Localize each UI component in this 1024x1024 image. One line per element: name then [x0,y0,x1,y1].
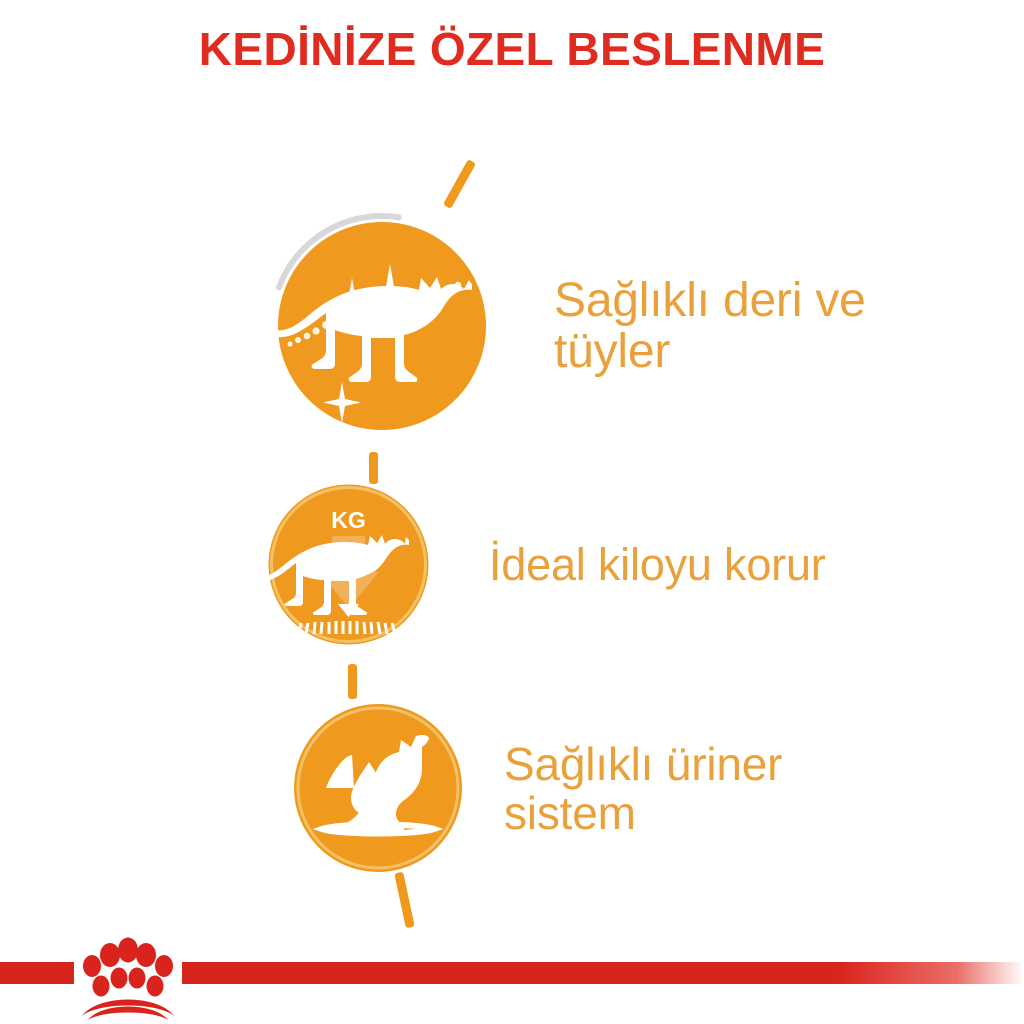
page-title: KEDİNİZE ÖZEL BESLENME [0,22,1024,76]
brand-bar-right-segment [182,962,1024,984]
benefit-label-ideal-weight: İdeal kiloyu korur [489,541,826,589]
connector-dash-first-second [369,452,378,484]
benefit-item-skin-coat: Sağlıklı deri ve tüyler [268,212,866,440]
royal-canin-crown-logo [72,928,184,1020]
benefit-label-skin-coat: Sağlıklı deri ve tüyler [554,276,866,378]
cat-urinary-droplet-icon [292,702,464,874]
brand-bar-left-segment [0,962,74,984]
connector-dash-bottom [394,872,414,929]
benefit-item-ideal-weight: KG [266,482,826,647]
cat-weight-scale-icon: KG [266,482,431,647]
kg-label: KG [331,507,366,533]
connector-dash-second-third [348,664,357,699]
infographic-canvas: KEDİNİZE ÖZEL BESLENME [0,0,1024,1024]
cat-shiny-coat-icon [268,212,496,440]
benefit-label-urinary: Sağlıklı üriner sistem [504,740,782,838]
benefit-item-urinary: Sağlıklı üriner sistem [292,702,782,874]
connector-dash-top [443,159,476,209]
